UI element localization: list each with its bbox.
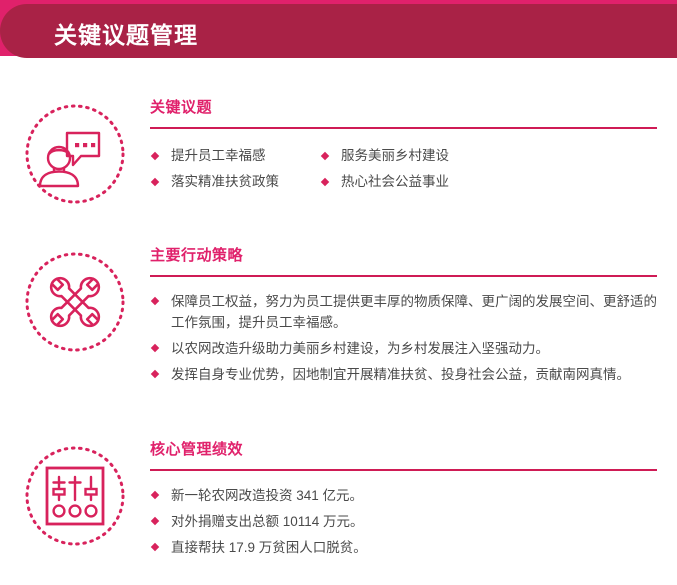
section-divider: [150, 469, 657, 471]
section-heading: 主要行动策略: [150, 244, 665, 265]
content-core-performance: 核心管理绩效 新一轮农网改造投资 341 亿元。 对外捐赠支出总额 10114 …: [150, 438, 677, 563]
list-item-text: 直接帮扶 17.9 万贫困人口脱贫。: [171, 540, 367, 555]
list-item-text: 保障员工权益，努力为员工提供更丰厚的物质保障、更广阔的发展空间、更舒适的工作氛围…: [171, 294, 657, 330]
list-item: 对外捐赠支出总额 10114 万元。: [150, 511, 665, 532]
person-speech-bubble-icon: [23, 102, 127, 206]
bullet-grid-key-issues: 提升员工幸福感 服务美丽乡村建设 落实精准扶贫政策 热心社会公益事业: [150, 143, 665, 195]
page-header: 关键议题管理: [0, 0, 677, 60]
diamond-bullet-icon: [151, 543, 159, 551]
list-item: 新一轮农网改造投资 341 亿元。: [150, 485, 665, 506]
page-title: 关键议题管理: [54, 16, 198, 50]
list-item-text: 发挥自身专业优势，因地制宜开展精准扶贫、投身社会公益，贡献南网真情。: [171, 367, 630, 382]
crossed-wrenches-icon: [23, 250, 127, 354]
list-item: 以农网改造升级助力美丽乡村建设，为乡村发展注入坚强动力。: [150, 338, 665, 359]
slider-controls-icon: [23, 444, 127, 548]
list-item: 落实精准扶贫政策: [150, 169, 320, 195]
section-core-performance: 核心管理绩效 新一轮农网改造投资 341 亿元。 对外捐赠支出总额 10114 …: [0, 438, 677, 563]
icon-container-core-performance: [0, 438, 150, 548]
icon-container-key-issues: [0, 96, 150, 206]
diamond-bullet-icon: [151, 517, 159, 525]
diamond-bullet-icon: [151, 370, 159, 378]
diamond-bullet-icon: [321, 178, 329, 186]
bullet-list-core-performance: 新一轮农网改造投资 341 亿元。 对外捐赠支出总额 10114 万元。 直接帮…: [150, 485, 665, 558]
list-item-text: 新一轮农网改造投资 341 亿元。: [171, 488, 363, 503]
list-item-text: 服务美丽乡村建设: [341, 148, 449, 163]
content-key-issues: 关键议题 提升员工幸福感 服务美丽乡村建设 落实精准扶贫政策 热心社会公益事业: [150, 96, 677, 195]
section-key-issues: 关键议题 提升员工幸福感 服务美丽乡村建设 落实精准扶贫政策 热心社会公益事业: [0, 96, 677, 206]
diamond-bullet-icon: [151, 491, 159, 499]
list-item: 保障员工权益，努力为员工提供更丰厚的物质保障、更广阔的发展空间、更舒适的工作氛围…: [150, 291, 665, 333]
list-item-text: 对外捐赠支出总额 10114 万元。: [171, 514, 364, 529]
list-item: 直接帮扶 17.9 万贫困人口脱贫。: [150, 537, 665, 558]
list-item: 提升员工幸福感: [150, 143, 320, 169]
section-action-strategy: 主要行动策略 保障员工权益，努力为员工提供更丰厚的物质保障、更广阔的发展空间、更…: [0, 244, 677, 390]
bullet-list-action-strategy: 保障员工权益，努力为员工提供更丰厚的物质保障、更广阔的发展空间、更舒适的工作氛围…: [150, 291, 665, 385]
list-item-text: 提升员工幸福感: [171, 148, 266, 163]
diamond-bullet-icon: [321, 152, 329, 160]
list-item: 服务美丽乡村建设: [320, 143, 665, 169]
diamond-bullet-icon: [151, 297, 159, 305]
diamond-bullet-icon: [151, 178, 159, 186]
list-item: 热心社会公益事业: [320, 169, 665, 195]
list-item-text: 落实精准扶贫政策: [171, 174, 279, 189]
section-divider: [150, 275, 657, 277]
section-heading: 核心管理绩效: [150, 438, 665, 459]
list-item: 发挥自身专业优势，因地制宜开展精准扶贫、投身社会公益，贡献南网真情。: [150, 364, 665, 385]
section-heading: 关键议题: [150, 96, 665, 117]
list-item-text: 以农网改造升级助力美丽乡村建设，为乡村发展注入坚强动力。: [171, 341, 549, 356]
diamond-bullet-icon: [151, 152, 159, 160]
content-action-strategy: 主要行动策略 保障员工权益，努力为员工提供更丰厚的物质保障、更广阔的发展空间、更…: [150, 244, 677, 390]
icon-container-action-strategy: [0, 244, 150, 354]
list-item-text: 热心社会公益事业: [341, 174, 449, 189]
diamond-bullet-icon: [151, 344, 159, 352]
section-divider: [150, 127, 657, 129]
